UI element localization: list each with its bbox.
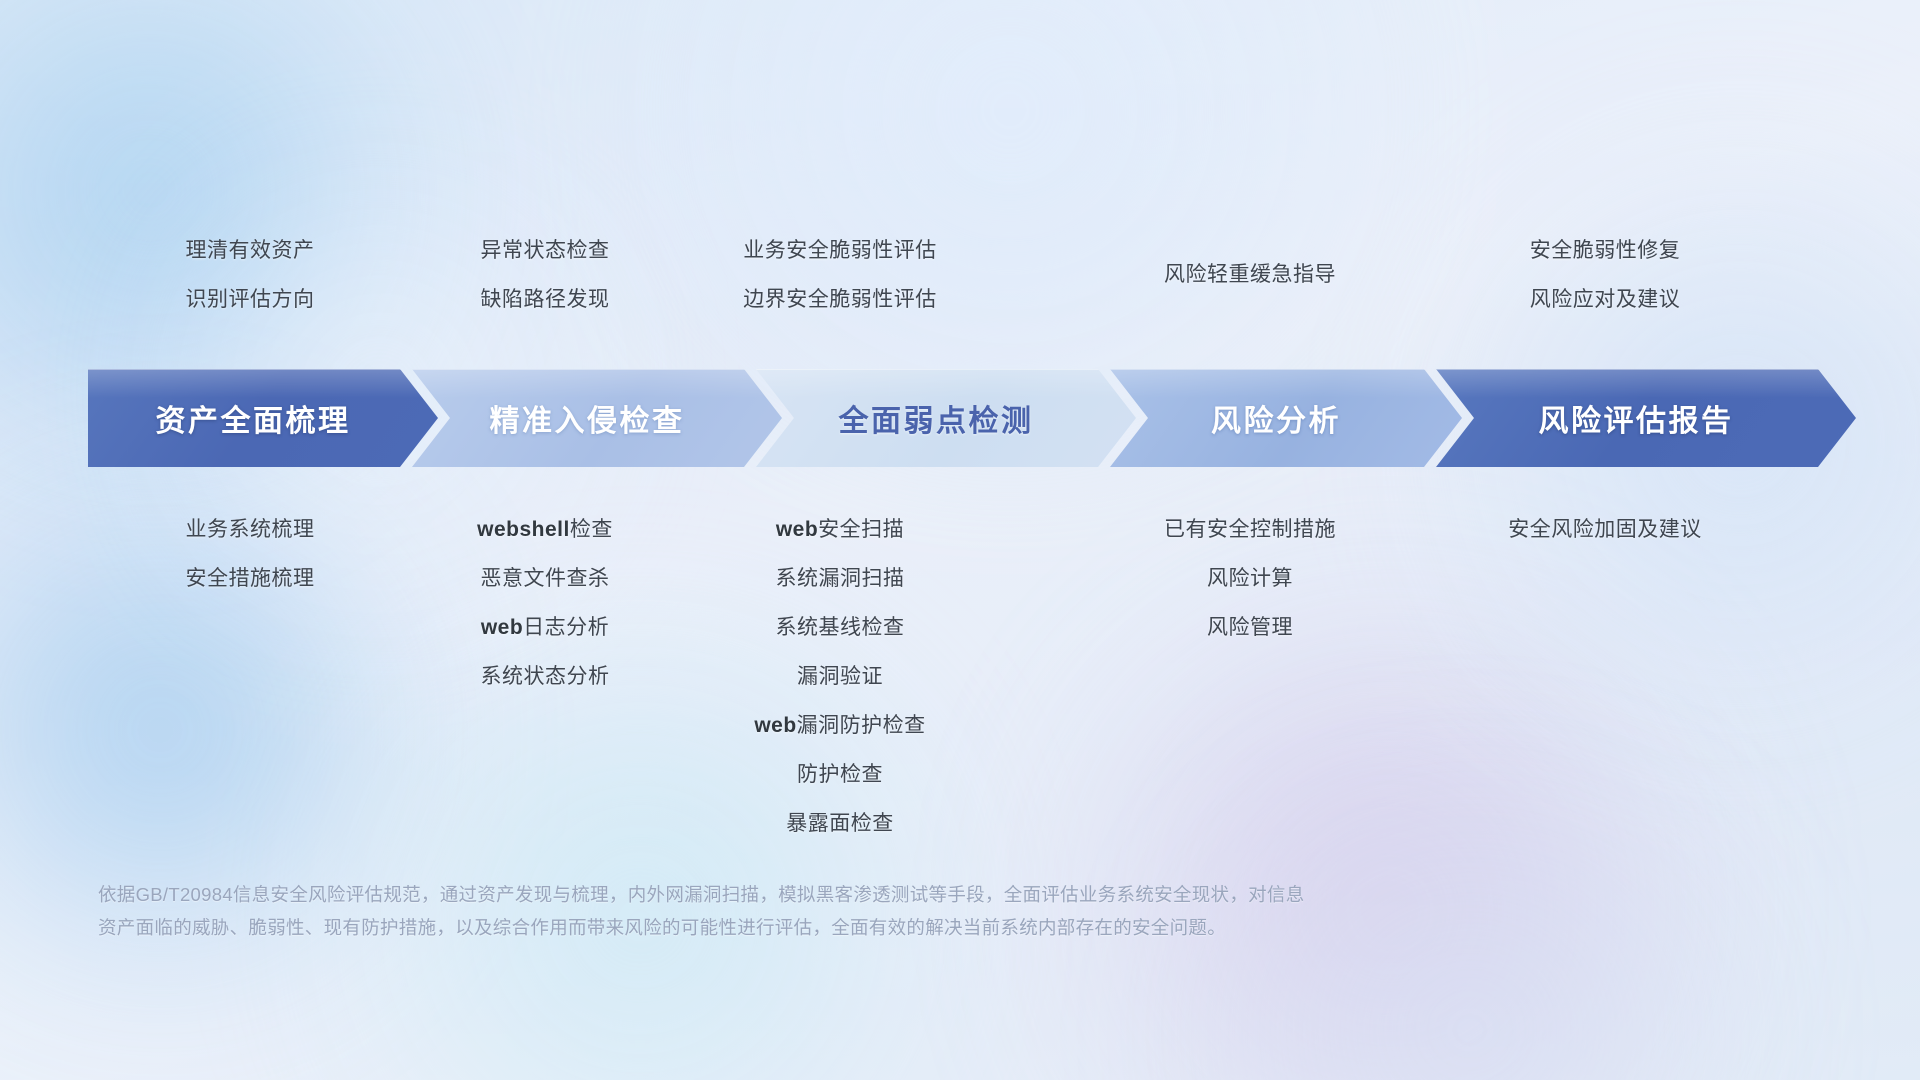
stage-arrow-3[interactable]: 全面弱点检测 xyxy=(756,369,1136,467)
stage-top-item: 边界安全脆弱性评估 xyxy=(620,275,1060,324)
stage-title-3: 全面弱点检测 xyxy=(839,396,1034,440)
footer-line-2: 资产面临的威胁、脆弱性、现有防护措施，以及综合作用而带来风险的可能性进行评估，全… xyxy=(98,911,1658,944)
stage-top-items-4: 风险轻重缓急指导 xyxy=(1075,250,1425,299)
stage-top-item: 风险应对及建议 xyxy=(1385,275,1825,324)
footer-line-1: 依据GB/T20984信息安全风险评估规范，通过资产发现与梳理，内外网漏洞扫描，… xyxy=(98,878,1658,911)
stage-bottom-item: 暴露面检查 xyxy=(620,799,1060,848)
arrow-gloss xyxy=(1110,369,1462,398)
process-diagram: 理清有效资产识别评估方向 异常状态检查缺陷路径发现 业务安全脆弱性评估边界安全脆… xyxy=(0,0,1920,1080)
stage-title-4: 风险分析 xyxy=(1211,396,1341,440)
latin-token: web xyxy=(481,616,523,639)
stage-top-items-3: 业务安全脆弱性评估边界安全脆弱性评估 xyxy=(620,226,1060,324)
latin-token: webshell xyxy=(477,518,570,541)
stage-bottom-item: 系统基线检查 xyxy=(620,603,1060,652)
stage-bottom-item: 风险计算 xyxy=(1075,554,1425,603)
stage-title-1: 资产全面梳理 xyxy=(156,396,351,440)
stage-bottom-items-3: web安全扫描系统漏洞扫描系统基线检查漏洞验证web漏洞防护检查防护检查暴露面检… xyxy=(620,505,1060,848)
arrow-gloss xyxy=(756,369,1136,398)
stage-bottom-item: 系统漏洞扫描 xyxy=(620,554,1060,603)
stage-top-item: 业务安全脆弱性评估 xyxy=(620,226,1060,275)
arrow-gloss xyxy=(1436,369,1856,398)
stage-bottom-item: web漏洞防护检查 xyxy=(620,701,1060,750)
stage-top-item: 安全脆弱性修复 xyxy=(1385,226,1825,275)
stage-arrow-2[interactable]: 精准入侵检查 xyxy=(412,369,782,467)
stage-title-5: 风险评估报告 xyxy=(1539,396,1734,440)
stage-bottom-item: web安全扫描 xyxy=(620,505,1060,554)
arrow-gloss xyxy=(88,369,438,398)
footer-description: 依据GB/T20984信息安全风险评估规范，通过资产发现与梳理，内外网漏洞扫描，… xyxy=(98,878,1658,944)
stage-bottom-item: 防护检查 xyxy=(620,750,1060,799)
stage-bottom-item: 漏洞验证 xyxy=(620,652,1060,701)
stage-bottom-item: 安全风险加固及建议 xyxy=(1385,505,1825,554)
latin-token: web xyxy=(754,714,796,737)
stage-bottom-item: 风险管理 xyxy=(1075,603,1425,652)
stage-top-items-5: 安全脆弱性修复风险应对及建议 xyxy=(1385,226,1825,324)
stage-arrow-5[interactable]: 风险评估报告 xyxy=(1436,369,1856,467)
stage-bottom-items-4: 已有安全控制措施风险计算风险管理 xyxy=(1075,505,1425,652)
stage-top-item: 风险轻重缓急指导 xyxy=(1075,250,1425,299)
process-arrow-band: 资产全面梳理 精准入侵检查 全面弱点检测 风险分析 风险评估报告 xyxy=(88,369,1856,467)
arrow-gloss xyxy=(412,369,782,398)
stage-bottom-item: 已有安全控制措施 xyxy=(1075,505,1425,554)
stage-arrow-1[interactable]: 资产全面梳理 xyxy=(88,369,438,467)
latin-token: web xyxy=(776,518,818,541)
stage-title-2: 精准入侵检查 xyxy=(490,396,685,440)
stage-bottom-items-5: 安全风险加固及建议 xyxy=(1385,505,1825,554)
stage-arrow-4[interactable]: 风险分析 xyxy=(1110,369,1462,467)
